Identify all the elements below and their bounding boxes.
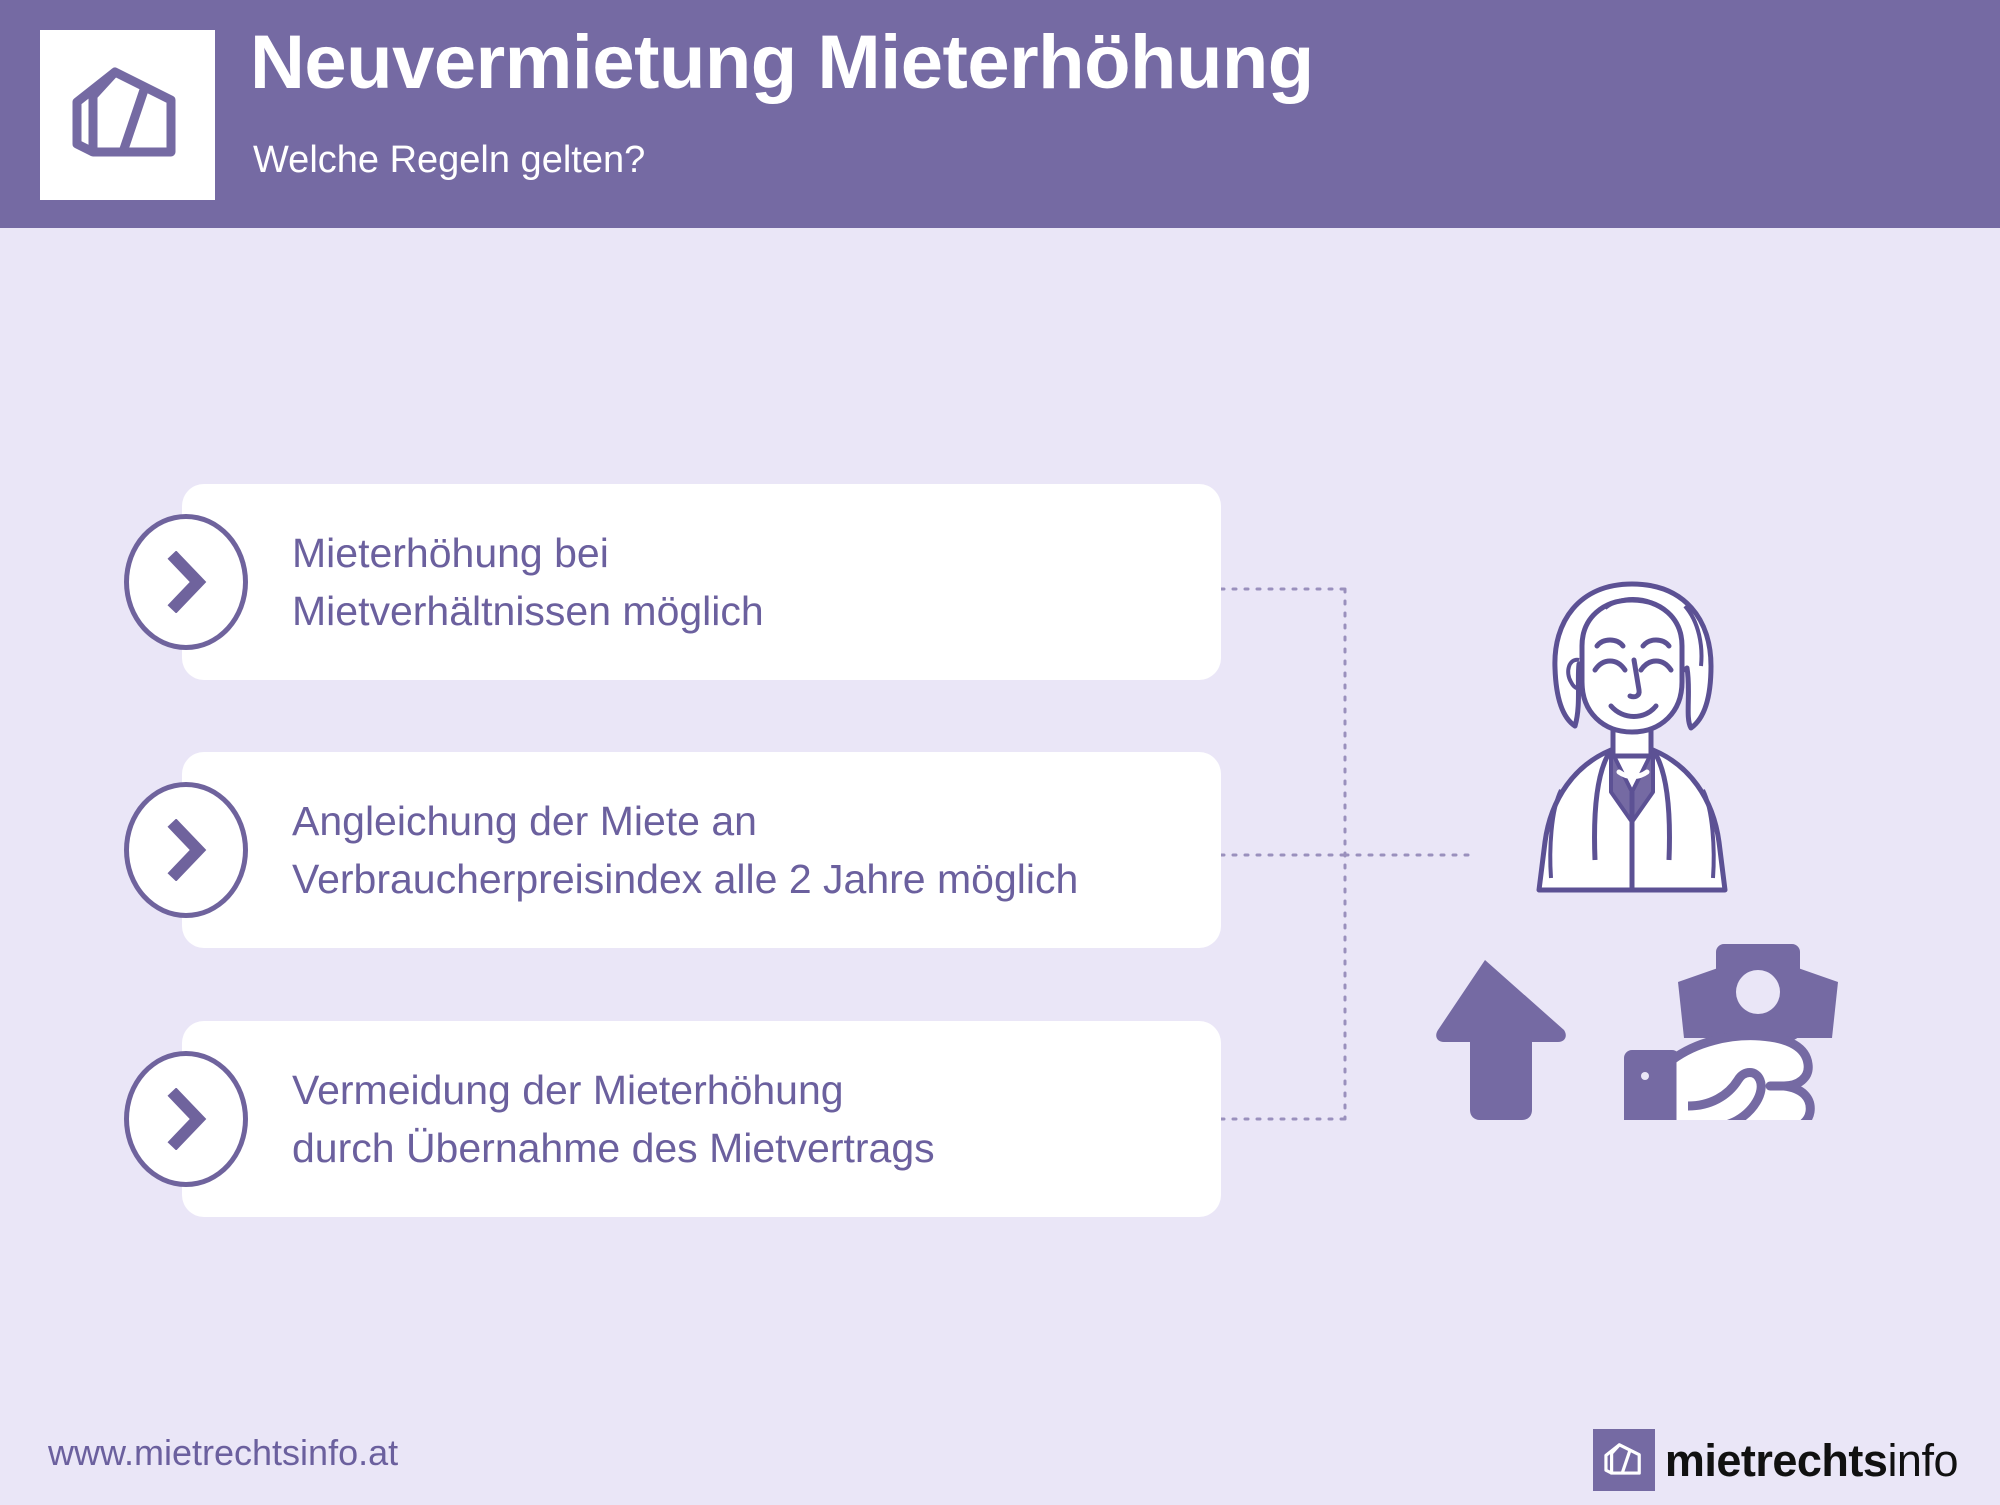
step-line-2: Verbraucherpreisindex alle 2 Jahre mögli… [292,850,1192,908]
step-line-1: Angleichung der Miete an [292,792,1192,850]
footer-website-url[interactable]: www.mietrechtsinfo.at [48,1432,398,1474]
step-line-1: Mieterhöhung bei [292,524,1192,582]
illustration-group [1430,560,1950,1120]
chevron-right-icon[interactable] [124,782,248,918]
chevron-right-icon[interactable] [124,1051,248,1187]
list-item[interactable]: Angleichung der Miete an Verbraucherprei… [182,752,1221,948]
hand-holding-money-icon [1624,944,1838,1120]
step-line-2: durch Übernahme des Mietvertrags [292,1119,1192,1177]
step-line-1: Vermeidung der Mieterhöhung [292,1061,1192,1119]
house-outline-icon [1593,1429,1655,1491]
chevron-right-icon[interactable] [124,514,248,650]
footer-logo: mietrechtsinfo [1593,1424,1958,1496]
arrow-up-icon [1436,960,1566,1120]
footer-brand-wordmark: mietrechtsinfo [1665,1438,1958,1483]
step-line-2: Mietverhältnissen möglich [292,582,1192,640]
footer-brand-bold: mietrechts [1665,1435,1888,1486]
smiling-woman-icon [1539,584,1725,890]
step-text: Vermeidung der Mieterhöhung durch Überna… [292,1021,1192,1217]
step-text: Mieterhöhung bei Mietverhältnissen mögli… [292,484,1192,680]
step-text: Angleichung der Miete an Verbraucherprei… [292,752,1192,948]
footer-brand-light: info [1887,1435,1958,1486]
list-item[interactable]: Mieterhöhung bei Mietverhältnissen mögli… [182,484,1221,680]
list-item[interactable]: Vermeidung der Mieterhöhung durch Überna… [182,1021,1221,1217]
